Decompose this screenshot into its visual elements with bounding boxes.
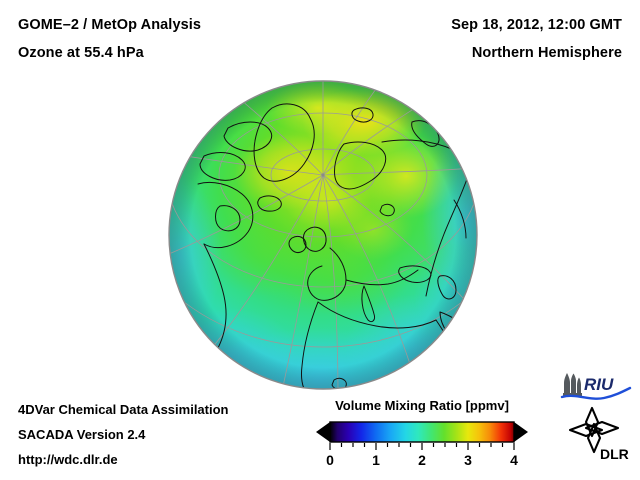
colorbar-tick-label: 0	[326, 452, 334, 468]
colorbar-tick-labels: 01234	[326, 452, 518, 468]
colorbar-title: Volume Mixing Ratio [ppmv]	[312, 398, 532, 413]
colorbar-tick-label: 1	[372, 452, 380, 468]
figure-canvas: GOME–2 / MetOp Analysis Ozone at 55.4 hP…	[0, 0, 640, 480]
riu-logo: RIU	[560, 371, 632, 406]
colorbar-tick-label: 4	[510, 452, 518, 468]
colorbar-tick-label: 3	[464, 452, 472, 468]
colorbar-cap-low	[316, 422, 330, 442]
website-link[interactable]: http://wdc.dlr.de	[18, 452, 118, 467]
assimilation-label: 4DVar Chemical Data Assimilation	[18, 402, 229, 417]
page-title: GOME–2 / MetOp Analysis	[18, 17, 201, 33]
colorbar-ramp	[330, 422, 514, 442]
region-label: Northern Hemisphere	[472, 45, 622, 61]
colorbar: Volume Mixing Ratio [ppmv] 01234	[312, 398, 532, 468]
north-pole-marker	[321, 173, 324, 176]
page-subtitle: Ozone at 55.4 hPa	[18, 45, 144, 61]
dlr-wordmark: DLR	[600, 446, 629, 462]
globe-map	[168, 80, 478, 390]
colorbar-cap-high	[514, 422, 528, 442]
riu-wordmark: RIU	[584, 375, 614, 394]
dlr-logo: DLR	[566, 406, 632, 467]
riu-towers-icon	[563, 373, 582, 396]
colorbar-ticks	[330, 443, 514, 450]
colorbar-tick-label: 2	[418, 452, 426, 468]
datetime-label: Sep 18, 2012, 12:00 GMT	[451, 17, 622, 33]
version-label: SACADA Version 2.4	[18, 427, 145, 442]
